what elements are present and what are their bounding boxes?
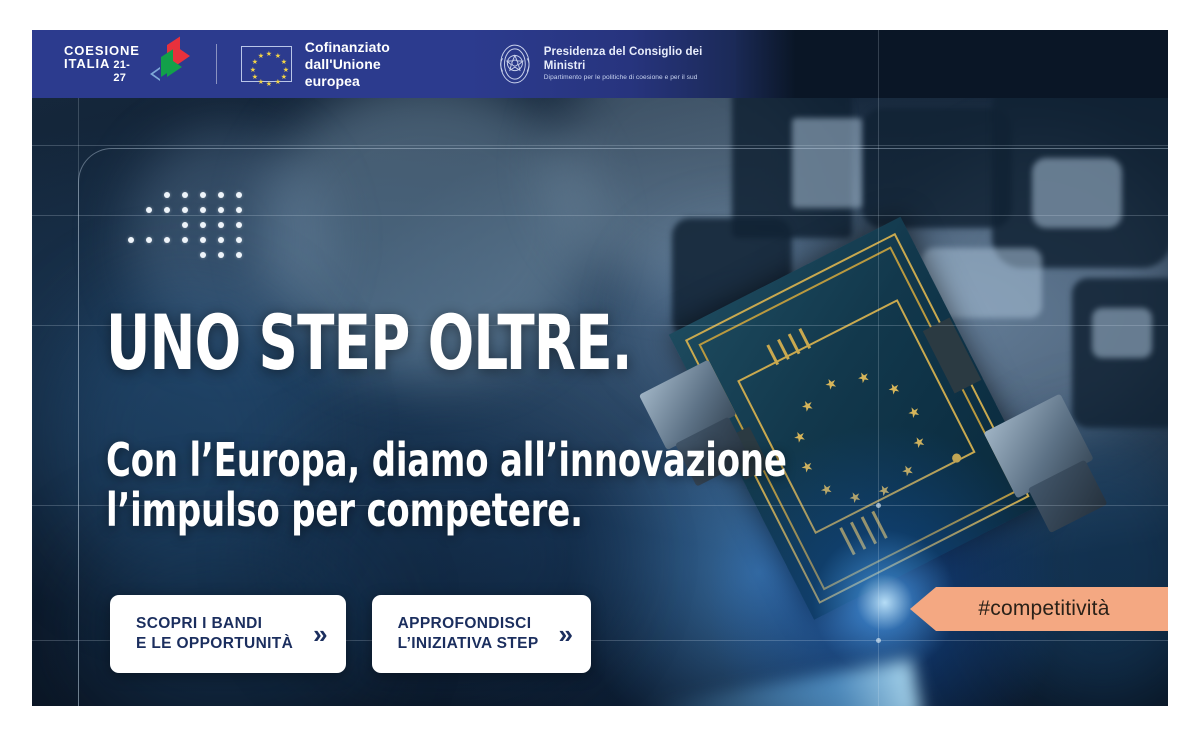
topbar-fade xyxy=(736,30,796,98)
eu-cofinancing-logo[interactable]: ★ ★ ★ ★ ★ ★ ★ ★ ★ ★ ★ ★ Cofinanziato dal… xyxy=(241,39,432,90)
hero-headline: UNO STEP OLTRE. xyxy=(106,305,632,381)
coesione-italia-logo[interactable]: COESIONE ITALIA 21-27 xyxy=(64,44,190,85)
eu-label-line2: dall'Unione europea xyxy=(305,56,432,90)
hero-banner: ★ ★ ★ ★ ★ ★ ★ ★ ★ ★ ★ ★ xyxy=(32,30,1168,706)
logo-divider xyxy=(216,44,217,84)
hero-subheadline: Con l’Europa, diamo all’innovazione l’im… xyxy=(106,435,787,535)
coesione-chevron-icon xyxy=(149,44,190,84)
cta-group: SCOPRI I BANDI E LE OPPORTUNITÀ » APPROF… xyxy=(110,595,591,673)
presidenza-subtitle: Dipartimento per le politiche di coesion… xyxy=(544,73,736,83)
institutional-logo-bar: COESIONE ITALIA 21-27 ★ ★ ★ xyxy=(32,30,736,98)
presidenza-consiglio-logo[interactable]: Presidenza del Consiglio dei Ministri Di… xyxy=(496,42,736,86)
chevron-right-icon: » xyxy=(313,621,323,647)
coesione-logo-text: COESIONE ITALIA 21-27 xyxy=(64,44,141,85)
presidenza-title: Presidenza del Consiglio dei Ministri xyxy=(544,45,736,73)
approfondisci-step-button[interactable]: APPROFONDISCI L’INIZIATIVA STEP » xyxy=(372,595,591,673)
eu-flag-icon: ★ ★ ★ ★ ★ ★ ★ ★ ★ ★ ★ ★ xyxy=(241,46,292,82)
chevron-right-icon: » xyxy=(559,621,569,647)
eu-label-line1: Cofinanziato xyxy=(305,39,432,56)
eu-label: Cofinanziato dall'Unione europea xyxy=(305,39,432,90)
republic-emblem-icon xyxy=(496,42,534,86)
coesione-line2: ITALIA xyxy=(64,57,110,70)
coesione-years: 21-27 xyxy=(113,59,141,85)
coesione-line1: COESIONE xyxy=(64,44,141,57)
page-root: ★ ★ ★ ★ ★ ★ ★ ★ ★ ★ ★ ★ xyxy=(0,0,1200,736)
scopri-bandi-label: SCOPRI I BANDI E LE OPPORTUNITÀ xyxy=(136,614,293,654)
scopri-bandi-button[interactable]: SCOPRI I BANDI E LE OPPORTUNITÀ » xyxy=(110,595,346,673)
approfondisci-step-label: APPROFONDISCI L’INIZIATIVA STEP xyxy=(398,614,539,654)
hashtag-badge: #competitività xyxy=(910,587,1168,631)
